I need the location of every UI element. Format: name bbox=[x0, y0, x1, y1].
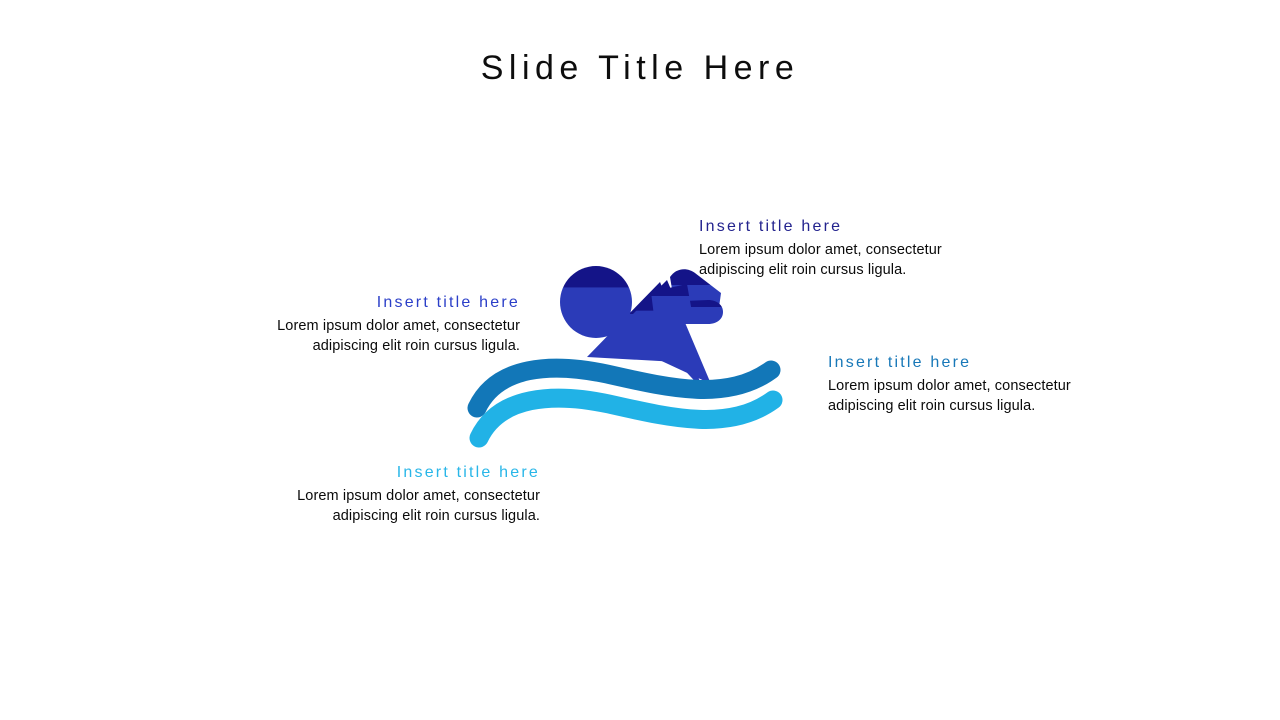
wave-lower bbox=[479, 398, 773, 438]
callout-top-right: Insert title here Lorem ipsum dolor amet… bbox=[699, 216, 999, 280]
callout-right: Insert title here Lorem ipsum dolor amet… bbox=[828, 352, 1118, 416]
callout-bottom-left: Insert title here Lorem ipsum dolor amet… bbox=[258, 462, 540, 526]
slide-canvas: Slide Title Here bbox=[0, 0, 1280, 720]
callout-body: Lorem ipsum dolor amet, consectetur adip… bbox=[699, 241, 999, 280]
swimmer-head bbox=[560, 266, 632, 338]
page-title: Slide Title Here bbox=[0, 46, 1280, 90]
callout-body: Lorem ipsum dolor amet, consectetur adip… bbox=[828, 377, 1118, 416]
callout-title: Insert title here bbox=[699, 216, 999, 238]
callout-body: Lorem ipsum dolor amet, consectetur adip… bbox=[240, 317, 520, 356]
callout-title: Insert title here bbox=[240, 292, 520, 314]
callout-body: Lorem ipsum dolor amet, consectetur adip… bbox=[258, 487, 540, 526]
callout-left: Insert title here Lorem ipsum dolor amet… bbox=[240, 292, 520, 356]
callout-title: Insert title here bbox=[828, 352, 1118, 374]
callout-title: Insert title here bbox=[258, 462, 540, 484]
